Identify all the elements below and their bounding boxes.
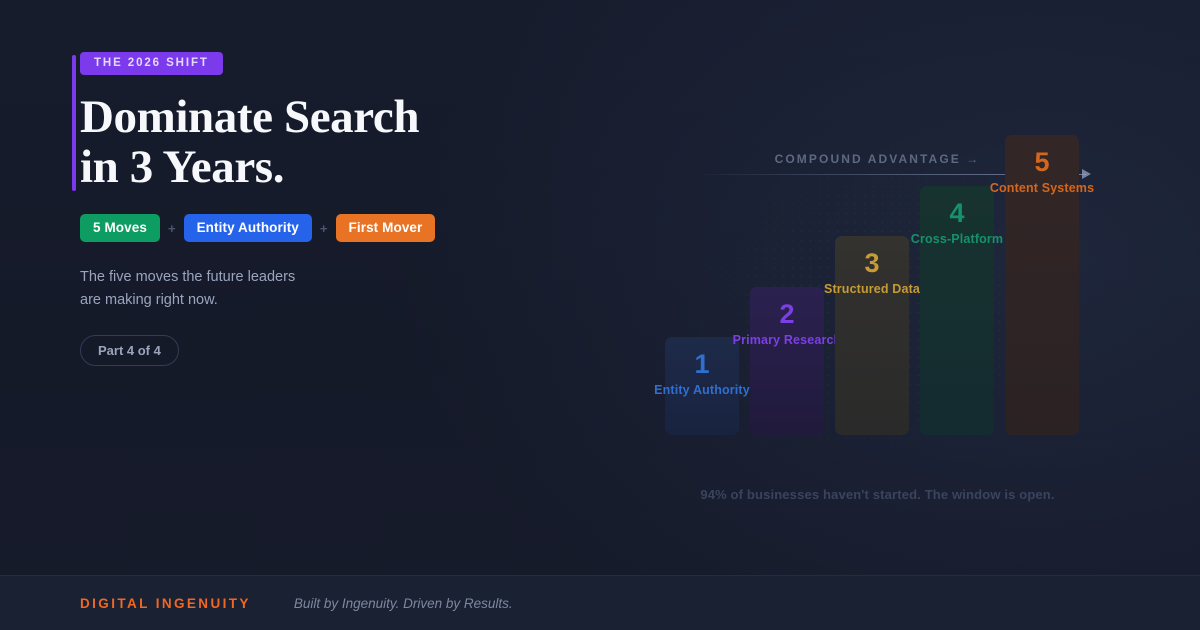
slide-canvas: THE 2026 SHIFT Dominate Search in 3 Year… [0, 0, 1200, 630]
subcopy-line-2: are making right now. [80, 289, 550, 312]
badge-separator-2: + [320, 221, 328, 236]
bar-rank-number: 3 [835, 250, 909, 277]
bar-content-systems[interactable]: 5Content Systems [1005, 135, 1079, 435]
bar-entity-authority[interactable]: 1Entity Authority [665, 337, 739, 435]
bar-structured-data[interactable]: 3Structured Data [835, 236, 909, 435]
accent-rail [72, 55, 76, 191]
hero-column: THE 2026 SHIFT Dominate Search in 3 Year… [80, 52, 550, 366]
page-title: Dominate Search in 3 Years. [80, 92, 550, 192]
eyebrow-badge: THE 2026 SHIFT [80, 52, 223, 75]
brand-wordmark: DIGITAL INGENUITY [80, 596, 251, 611]
hero-subcopy: The five moves the future leaders are ma… [80, 266, 550, 311]
bar-cross-platform[interactable]: 4Cross-Platform [920, 186, 994, 436]
brand-tagline: Built by Ingenuity. Driven by Results. [294, 596, 513, 611]
bar-rank-number: 2 [750, 301, 824, 328]
bar-label: Primary Research [733, 333, 842, 347]
headline-line-2: in 3 Years. [80, 142, 550, 192]
badge-first-mover[interactable]: First Mover [336, 214, 436, 242]
bar-rank-number: 4 [920, 200, 994, 227]
bar-primary-research[interactable]: 2Primary Research [750, 287, 824, 436]
bar-label: Entity Authority [654, 383, 750, 397]
badge-separator-1: + [168, 221, 176, 236]
subcopy-line-1: The five moves the future leaders [80, 266, 550, 289]
bar-label: Cross-Platform [911, 232, 1003, 246]
bar-label: Structured Data [824, 282, 920, 296]
bar-rank-number: 5 [1005, 149, 1079, 176]
bar-label: Content Systems [990, 181, 1094, 195]
badge-entity-authority[interactable]: Entity Authority [184, 214, 312, 242]
compound-advantage-chart: COMPOUND ADVANTAGE → 1Entity Authority2P… [655, 125, 1100, 525]
headline-line-1: Dominate Search [80, 92, 550, 142]
bar-rank-number: 1 [665, 351, 739, 378]
badge-5-moves[interactable]: 5 Moves [80, 214, 160, 242]
chart-annotation: 94% of businesses haven't started. The w… [655, 487, 1100, 502]
part-indicator-pill: Part 4 of 4 [80, 335, 179, 366]
bar-group: 1Entity Authority2Primary Research3Struc… [665, 125, 1095, 435]
page-footer: DIGITAL INGENUITY Built by Ingenuity. Dr… [0, 575, 1200, 630]
badge-row: 5 Moves + Entity Authority + First Mover [80, 214, 550, 242]
